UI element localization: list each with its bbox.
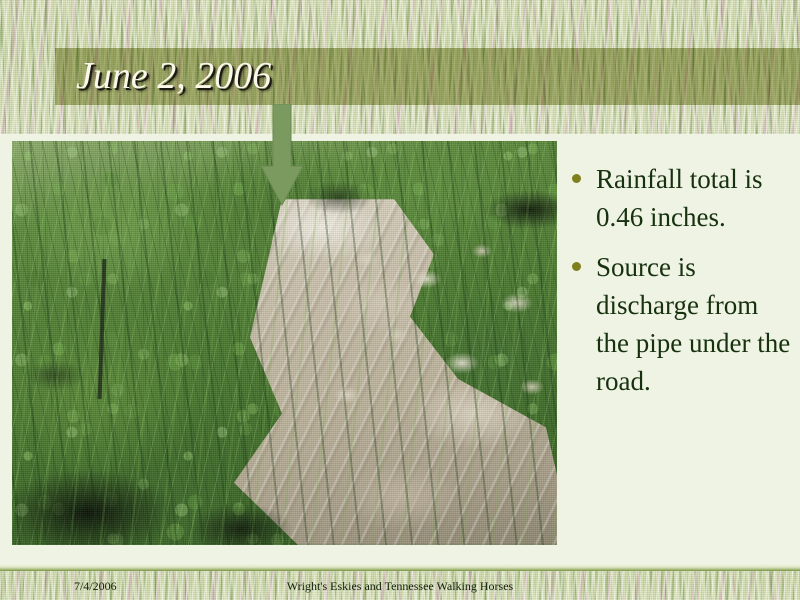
footer-divider — [0, 563, 800, 571]
list-item: Source is discharge from the pipe under … — [572, 248, 794, 400]
footer-title: Wright's Eskies and Tennessee Walking Ho… — [0, 579, 800, 594]
down-arrow-icon — [258, 104, 306, 208]
bullet-text: Rainfall total is 0.46 inches. — [596, 160, 794, 236]
bullet-list: Rainfall total is 0.46 inches. Source is… — [572, 160, 794, 412]
slide-title: June 2, 2006 — [76, 52, 776, 100]
down-arrow-shape — [258, 104, 306, 208]
bullet-dot-icon — [572, 174, 581, 183]
slide: June 2, 2006 Rainfall total is 0.46 inch… — [0, 0, 800, 600]
bullet-text: Source is discharge from the pipe under … — [596, 248, 794, 400]
list-item: Rainfall total is 0.46 inches. — [572, 160, 794, 236]
bullet-dot-icon — [572, 262, 581, 271]
